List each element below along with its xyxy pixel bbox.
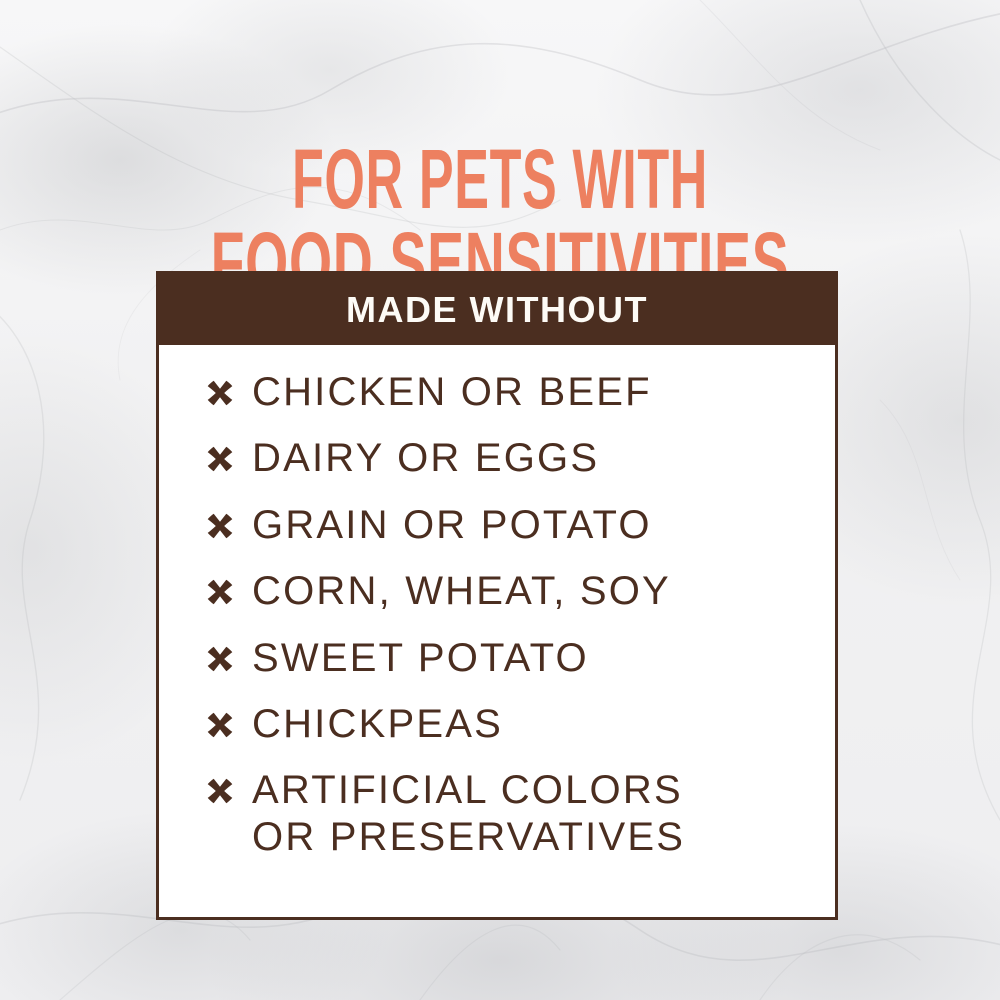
x-mark-icon (205, 444, 235, 474)
list-item: CHICKEN OR BEEF (205, 369, 835, 415)
list-item: CHICKPEAS (205, 701, 835, 747)
list-item: DAIRY OR EGGS (205, 435, 835, 481)
made-without-card: MADE WITHOUT CHICKEN OR BEEF (156, 271, 838, 920)
list-item-label: CORN, WHEAT, SOY (252, 568, 671, 614)
x-mark-icon (205, 378, 235, 408)
list-item-label: GRAIN OR POTATO (252, 502, 652, 548)
card-header: MADE WITHOUT (159, 274, 835, 345)
list-item-label: CHICKEN OR BEEF (252, 369, 652, 415)
x-mark-icon (205, 644, 235, 674)
pet-food-claims-graphic: FOR PETS WITH FOOD SENSITIVITIES MADE WI… (0, 0, 1000, 1000)
list-item: GRAIN OR POTATO (205, 502, 835, 548)
x-mark-icon (205, 710, 235, 740)
x-mark-icon (205, 511, 235, 541)
x-mark-icon (205, 776, 235, 806)
card-header-title: MADE WITHOUT (346, 289, 648, 331)
list-item-label: ARTIFICIAL COLORS OR PRESERVATIVES (252, 767, 685, 860)
list-item-label: SWEET POTATO (252, 635, 589, 681)
x-mark-icon (205, 577, 235, 607)
card-body: CHICKEN OR BEEF DAIRY OR EGGS (159, 345, 835, 917)
list-item-label: DAIRY OR EGGS (252, 435, 599, 481)
headline-line-1: FOR PETS WITH (190, 138, 810, 220)
list-item: SWEET POTATO (205, 635, 835, 681)
list-item: CORN, WHEAT, SOY (205, 568, 835, 614)
list-item: ARTIFICIAL COLORS OR PRESERVATIVES (205, 767, 835, 860)
list-item-label: CHICKPEAS (252, 701, 503, 747)
exclusion-list: CHICKEN OR BEEF DAIRY OR EGGS (159, 369, 835, 860)
